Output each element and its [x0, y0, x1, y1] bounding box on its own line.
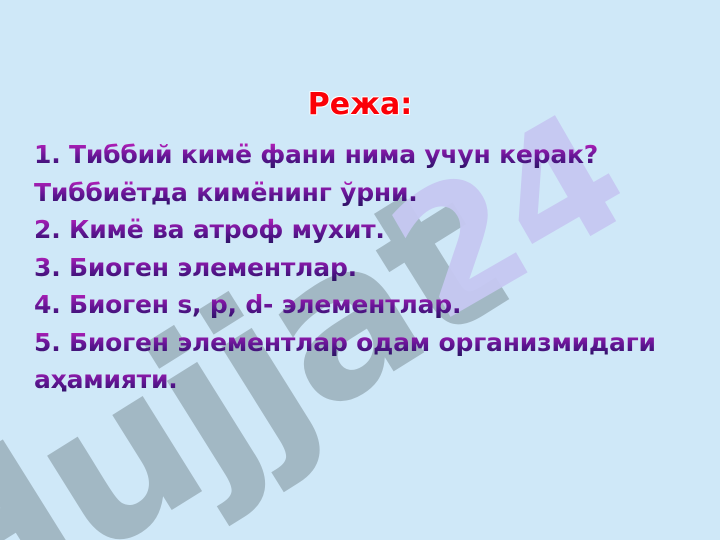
plan-list-item: 3. Биоген элементлар.: [34, 249, 706, 287]
plan-list-item: 2. Кимё ва атроф мухит.: [34, 211, 706, 249]
plan-list-item: 1. Тиббий кимё фани нима учун керак?: [34, 136, 706, 174]
plan-list: 1. Тиббий кимё фани нима учун керак? Тиб…: [34, 136, 706, 399]
plan-title: Режа:: [0, 88, 720, 122]
plan-list-item: 5. Биоген элементлар одам организмидаги: [34, 324, 706, 362]
presentation-slide: Hujjat 24 Режа: 1. Тиббий кимё фани нима…: [0, 0, 720, 540]
slide-content: Режа: 1. Тиббий кимё фани нима учун кера…: [0, 0, 720, 540]
plan-list-item: аҳамияти.: [34, 361, 706, 399]
plan-list-item: Тиббиётда кимёнинг ўрни.: [34, 174, 706, 212]
plan-list-item: 4. Биоген s, p, d- элементлар.: [34, 286, 706, 324]
